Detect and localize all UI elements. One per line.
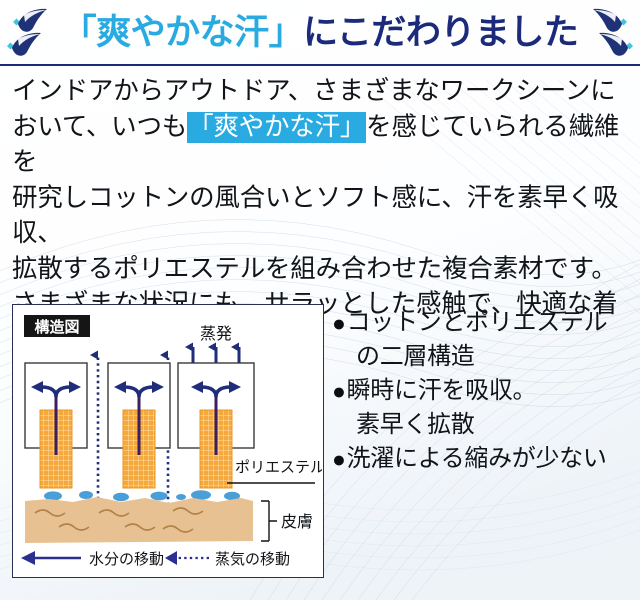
diagram-badge: 構造図 xyxy=(24,315,90,337)
evaporation-label: 蒸発 xyxy=(200,325,232,343)
promo-graphic: 「爽やかな汗」にこだわりました xyxy=(0,0,640,600)
description-line-4: 拡散するポリエステルを組み合わせた複合素材です。 xyxy=(12,252,628,288)
skin-layer xyxy=(25,497,253,543)
feature-item-2-line-2: 素早く拡散 xyxy=(332,408,634,442)
water-drop-icon-lower xyxy=(599,33,628,56)
page-title-accent: 「爽やかな汗」 xyxy=(62,15,304,50)
water-drop-icon-lower xyxy=(12,33,41,56)
skin-label: 皮膚 xyxy=(281,513,313,531)
feature-item-2-line-1: 瞬時に汗を吸収。 xyxy=(347,374,634,408)
feature-item-1-line-1: コットンとポリエステル xyxy=(347,306,634,340)
legend-label-moisture: 水分の移動 xyxy=(89,551,164,568)
highlighted-phrase: 「爽やかな汗」 xyxy=(187,112,366,143)
diagram-badge-label: 構造図 xyxy=(34,318,79,336)
feature-item-2: ● 瞬時に汗を吸収。 素早く拡散 xyxy=(332,374,634,442)
water-drop-decoration-right xyxy=(576,4,638,62)
description-line-2-pre: おいて、いつも xyxy=(12,113,187,141)
bullet-marker: ● xyxy=(332,306,346,340)
description-line-2: おいて、いつも「爽やかな汗」を感じていられる繊維を xyxy=(12,110,628,181)
feature-bullet-list: ● コットンとポリエステル の二層構造 ● 瞬時に汗を吸収。 素早く拡散 ● 洗… xyxy=(332,306,634,476)
feature-item-1: ● コットンとポリエステル の二層構造 xyxy=(332,306,634,374)
water-drop-icon-upper xyxy=(18,9,47,32)
bullet-marker: ● xyxy=(332,374,346,408)
feature-item-3: ● 洗濯による縮みが少ない xyxy=(332,442,634,476)
water-drop-decoration-left xyxy=(2,4,64,62)
page-title-rest: にこだわりました xyxy=(303,15,578,50)
water-drop-icon-upper xyxy=(593,9,622,32)
bullet-marker: ● xyxy=(332,442,346,476)
structure-diagram-panel: 構造図 蒸発 xyxy=(12,304,324,578)
polyester-label: ポリエステル xyxy=(235,459,322,476)
feature-item-3-line-1: 洗濯による縮みが少ない xyxy=(347,442,634,476)
legend-label-vapour: 蒸気の移動 xyxy=(215,551,290,568)
header-divider xyxy=(0,64,640,66)
description-line-3: 研究しコットンの風合いとソフト感に、汗を素早く吸収、 xyxy=(12,181,628,252)
page-title: 「爽やかな汗」にこだわりました xyxy=(62,4,578,60)
structure-diagram: 構造図 蒸発 xyxy=(13,305,322,576)
header-banner: 「爽やかな汗」にこだわりました xyxy=(0,0,640,66)
description-line-1: インドアからアウトドア、さまざまなワークシーンに xyxy=(12,74,628,110)
feature-item-1-line-2: の二層構造 xyxy=(332,340,634,374)
